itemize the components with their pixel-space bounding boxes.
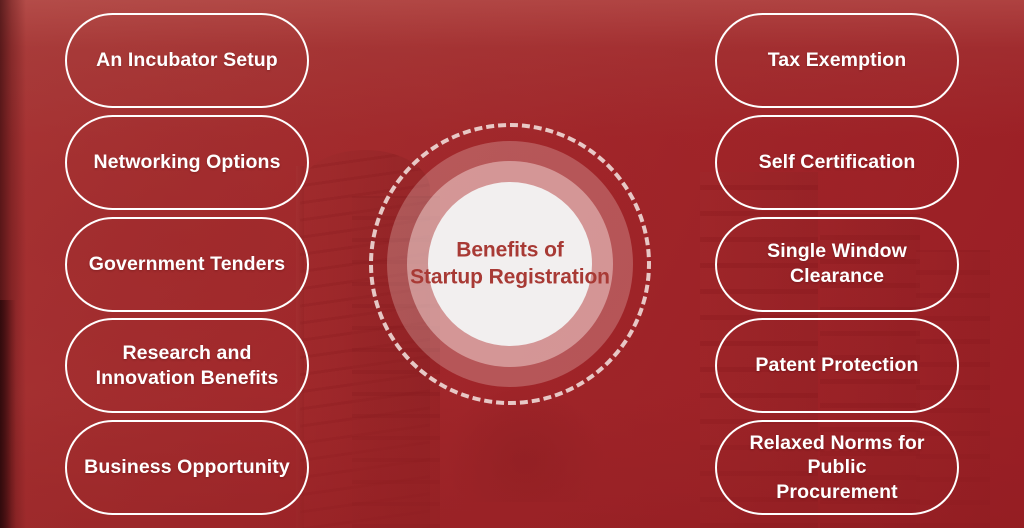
benefit-pill-research-and-innovation-benefits[interactable]: Research andInnovation Benefits: [65, 318, 309, 413]
benefit-label: Government Tenders: [89, 252, 286, 277]
center-title: Benefits of Startup Registration: [395, 237, 625, 292]
center-title-line-1: Benefits of: [456, 239, 563, 262]
benefit-pill-government-tenders[interactable]: Government Tenders: [65, 217, 309, 312]
background-left-edge-shadow-lower: [0, 300, 16, 528]
right-benefits-column: Tax Exemption Self Certification Single …: [715, 13, 959, 515]
benefit-pill-an-incubator-setup[interactable]: An Incubator Setup: [65, 13, 309, 108]
benefit-label: Business Opportunity: [84, 455, 290, 480]
center-emblem: Benefits of Startup Registration: [369, 123, 651, 405]
infographic-canvas: An Incubator Setup Networking Options Go…: [0, 0, 1024, 528]
benefit-pill-networking-options[interactable]: Networking Options: [65, 115, 309, 210]
benefit-label: Single WindowClearance: [767, 239, 907, 288]
benefit-pill-patent-protection[interactable]: Patent Protection: [715, 318, 959, 413]
benefit-pill-business-opportunity[interactable]: Business Opportunity: [65, 420, 309, 515]
benefit-pill-relaxed-norms-for-public-procurement[interactable]: Relaxed Norms for PublicProcurement: [715, 420, 959, 515]
benefit-label: Self Certification: [759, 150, 916, 175]
benefit-label: Networking Options: [93, 150, 280, 175]
center-title-line-2: Startup Registration: [395, 264, 625, 291]
benefit-pill-single-window-clearance[interactable]: Single WindowClearance: [715, 217, 959, 312]
benefit-label: Patent Protection: [755, 353, 918, 378]
left-benefits-column: An Incubator Setup Networking Options Go…: [65, 13, 309, 515]
benefit-label: Research andInnovation Benefits: [96, 341, 279, 390]
benefit-pill-tax-exemption[interactable]: Tax Exemption: [715, 13, 959, 108]
benefit-label: Relaxed Norms for PublicProcurement: [731, 431, 943, 505]
benefit-pill-self-certification[interactable]: Self Certification: [715, 115, 959, 210]
benefit-label: Tax Exemption: [768, 48, 907, 73]
benefit-label: An Incubator Setup: [96, 48, 278, 73]
